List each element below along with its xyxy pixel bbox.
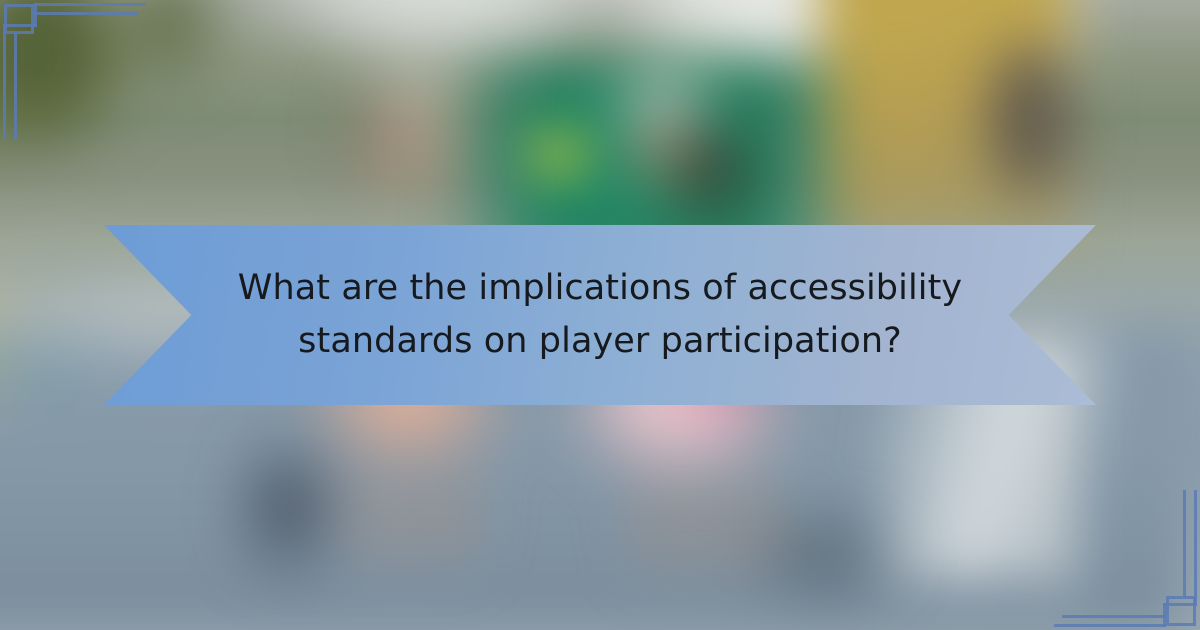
bg-paddle [240,435,335,585]
question-text: What are the implications of accessibili… [220,262,980,368]
bg-player-left-legs [335,445,495,580]
question-line-1: What are the implications of accessibili… [220,262,980,315]
bg-foreground-object [730,515,930,595]
bg-player-right-face [615,110,695,195]
bg-player-left-face [368,105,448,190]
question-ribbon-banner: What are the implications of accessibili… [104,225,1096,405]
poster-canvas: What are the implications of accessibili… [0,0,1200,630]
question-line-2: standards on player participation? [220,315,980,368]
